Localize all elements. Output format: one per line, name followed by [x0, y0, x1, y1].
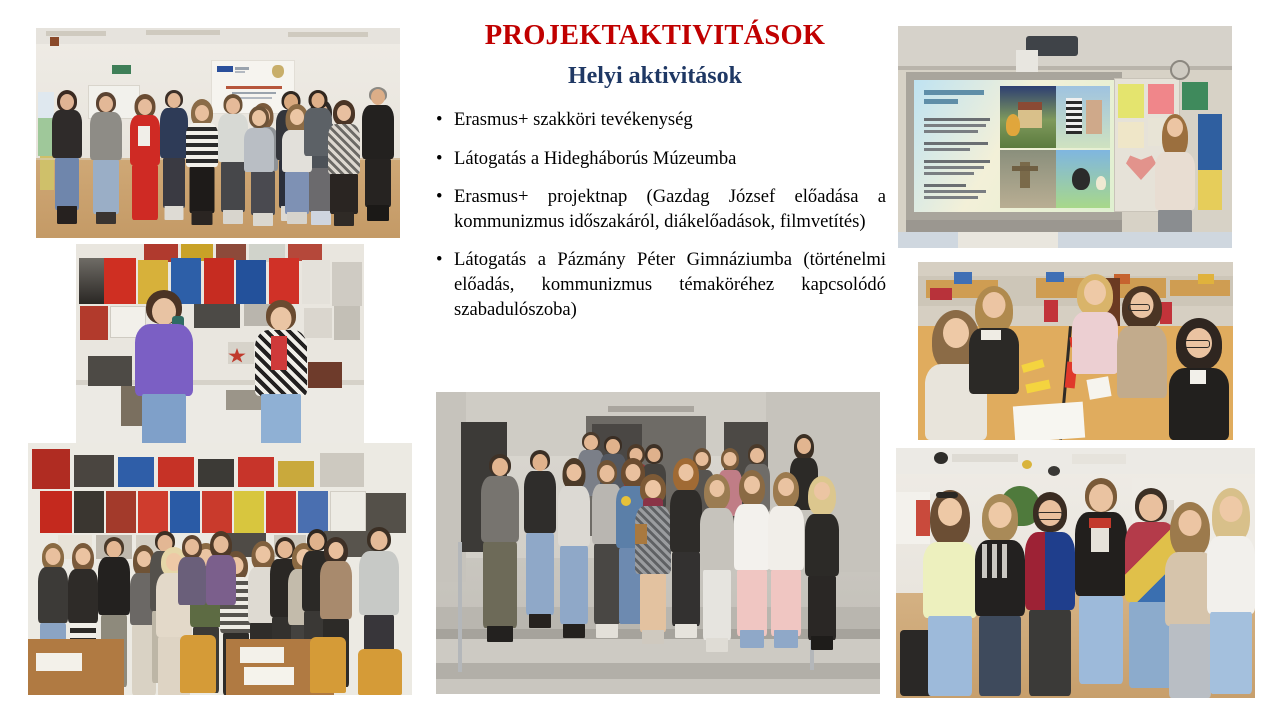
bullet-dot-icon: •	[436, 248, 443, 273]
activity-bullet-list: • Erasmus+ szakköri tevékenység • Látoga…	[424, 108, 886, 322]
eyeglasses-icon	[1184, 340, 1210, 348]
bullet-text: Erasmus+ projektnap (Gazdag József előad…	[454, 186, 886, 232]
slide-sub-title: Helyi aktivitások	[424, 63, 886, 91]
handrail-icon	[458, 542, 462, 672]
clock-icon	[1170, 60, 1190, 80]
projected-slide	[914, 80, 1114, 212]
chair-icon	[180, 635, 216, 693]
slide-main-title: PROJEKTAKTIVITÁSOK	[424, 20, 886, 53]
bullet-dot-icon: •	[436, 108, 443, 133]
paper-sheet	[1013, 402, 1085, 440]
lanyard-badge-icon	[1091, 526, 1109, 552]
exit-sign-icon	[50, 37, 59, 46]
photo-presentation-television-radio	[898, 26, 1232, 248]
wall-sign-icon	[112, 65, 131, 74]
sunglasses-on-head-icon	[936, 492, 958, 498]
school-crest-icon	[272, 65, 284, 78]
person-presenter	[1152, 114, 1198, 248]
person-houndstooth-jacket	[252, 300, 310, 450]
list-item: • Erasmus+ szakköri tevékenység	[424, 108, 886, 133]
list-item: • Látogatás a Pázmány Péter Gimnáziumba …	[424, 248, 886, 322]
bullet-text: Látogatás a Hidegháborús Múzeumba	[454, 148, 736, 169]
photo-steps-large-group	[436, 392, 880, 694]
photo-group-classroom-erasmus	[36, 28, 400, 238]
photo-workshop-desks-paper-strips	[918, 262, 1233, 440]
person-purple-sweater	[131, 290, 197, 450]
text-content-block: PROJEKTAKTIVITÁSOK Helyi aktivitások • E…	[424, 20, 886, 336]
chair-icon	[358, 649, 402, 695]
chair-icon	[310, 637, 346, 693]
list-item: • Látogatás a Hidegháborús Múzeumba	[424, 147, 886, 172]
ceiling-lamp-icon	[1048, 466, 1060, 476]
bullet-dot-icon: •	[436, 185, 443, 210]
bullet-text: Erasmus+ szakköri tevékenység	[454, 109, 693, 130]
list-item: • Erasmus+ projektnap (Gazdag József elő…	[424, 185, 886, 234]
eyeglasses-icon	[1037, 512, 1063, 520]
ceiling-lamp-icon	[934, 452, 948, 464]
eyeglasses-icon	[1128, 304, 1150, 311]
slide-title-text	[924, 90, 984, 95]
paper-card	[1086, 376, 1111, 400]
bullet-text: Látogatás a Pázmány Péter Gimnáziumba (t…	[454, 249, 886, 319]
bullet-dot-icon: •	[436, 147, 443, 172]
photo-museum-large-group	[28, 443, 412, 695]
building-inscription	[608, 406, 694, 412]
photo-students-hall-group	[896, 448, 1255, 698]
presentation-slide: PROJEKTAKTIVITÁSOK Helyi aktivitások • E…	[0, 0, 1280, 720]
ceiling-lamp-icon	[1022, 460, 1032, 469]
photo-museum-two-students-phone	[76, 244, 364, 450]
